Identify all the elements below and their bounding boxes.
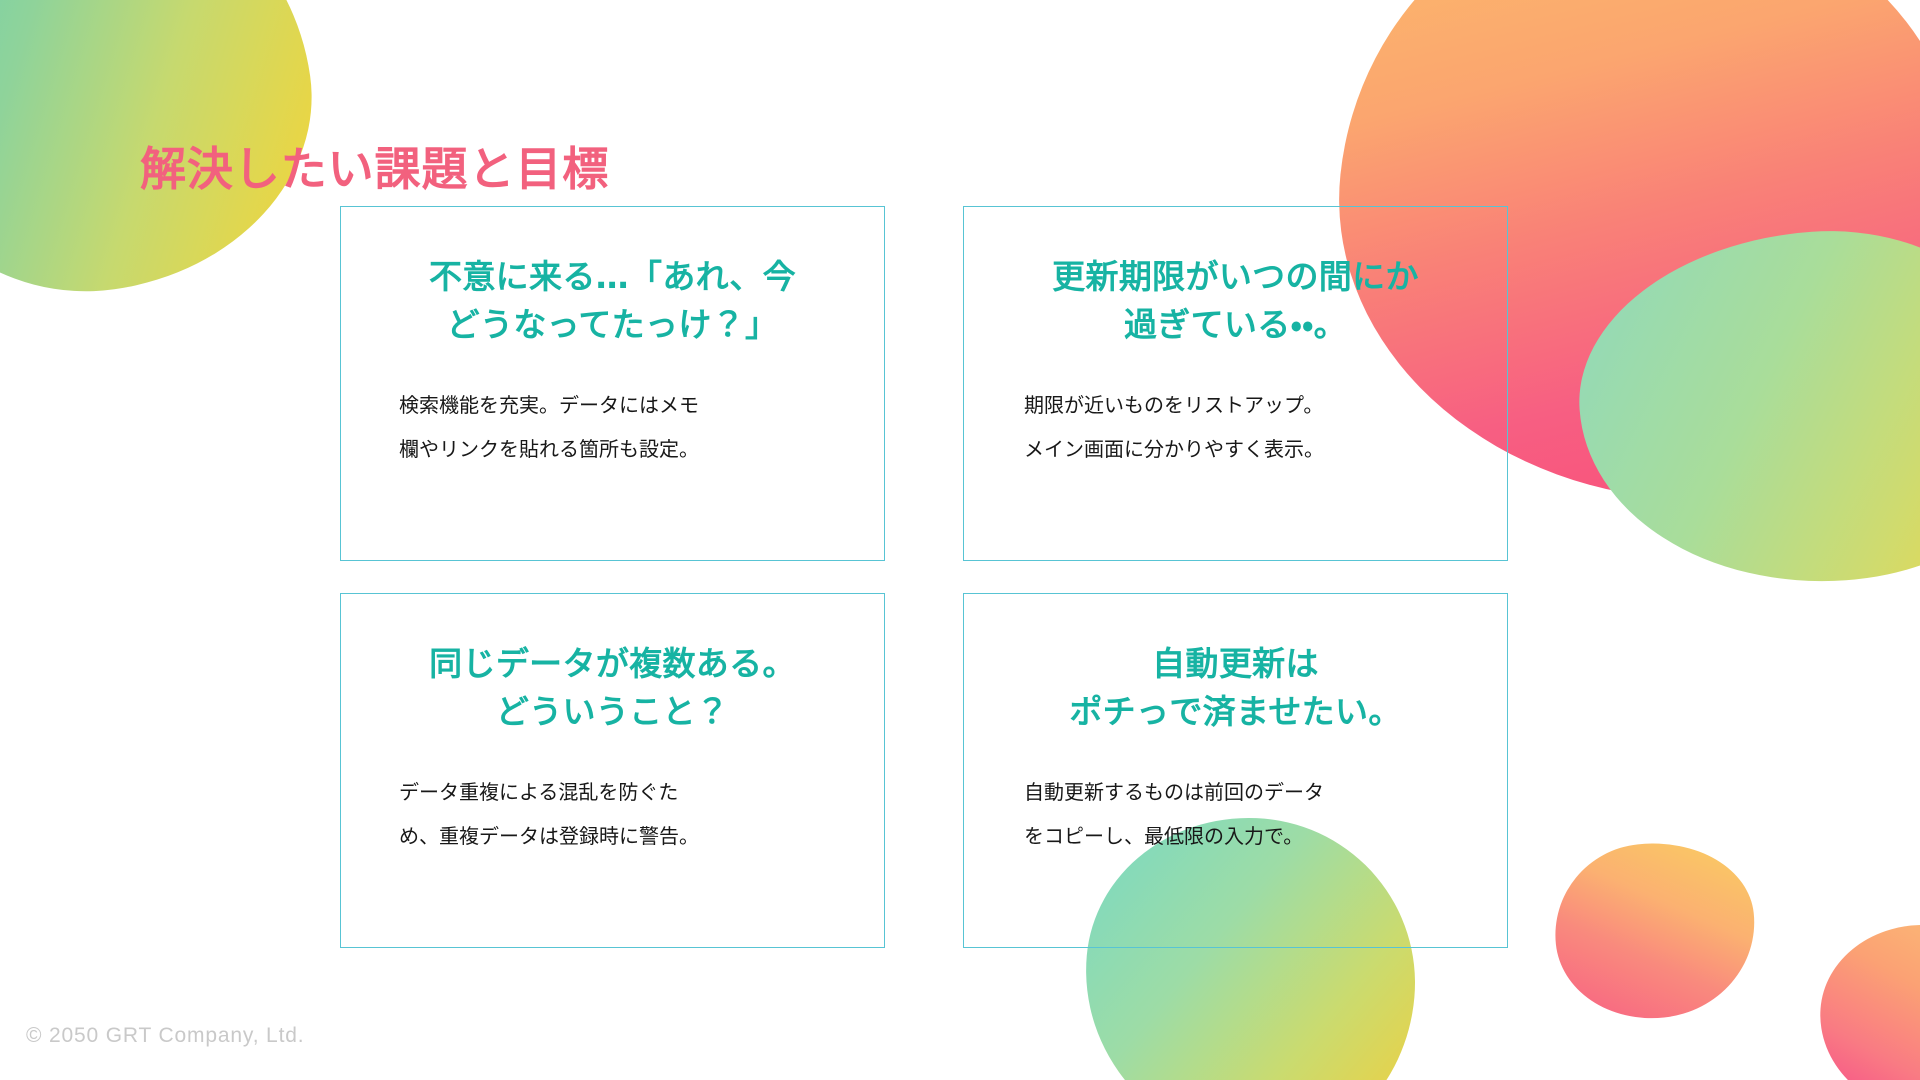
footer-copyright: © 2050 GRT Company, Ltd. [26,1024,304,1048]
problem-card-4: 自動更新は ポチっで済ませたい。 自動更新するものは前回のデータ をコピーし、最… [963,593,1508,948]
problem-card-4-title: 自動更新は ポチっで済ませたい。 [1069,640,1401,736]
problem-card-2-title: 更新期限がいつの間にか 過ぎている・・。 [1052,253,1419,349]
card-grid: 不意に来る…「あれ、今 どうなってたっけ？」 検索機能を充実。データにはメモ 欄… [340,206,1510,948]
slide-content: 解決したい課題と目標 不意に来る…「あれ、今 どうなってたっけ？」 検索機能を充… [0,0,1920,1080]
problem-card-4-body: 自動更新するものは前回のデータ をコピーし、最低限の入力で。 [1024,770,1324,858]
problem-card-1-title: 不意に来る…「あれ、今 どうなってたっけ？」 [429,253,796,349]
problem-card-3: 同じデータが複数ある。 どういうこと？ データ重複による混乱を防ぐた め、重複デ… [340,593,885,948]
problem-card-3-body: データ重複による混乱を防ぐた め、重複データは登録時に警告。 [399,770,699,858]
problem-card-1: 不意に来る…「あれ、今 どうなってたっけ？」 検索機能を充実。データにはメモ 欄… [340,206,885,561]
problem-card-2-body: 期限が近いものをリストアップ。 メイン画面に分かりやすく表示。 [1024,383,1324,471]
slide-canvas: 解決したい課題と目標 不意に来る…「あれ、今 どうなってたっけ？」 検索機能を充… [0,0,1920,1080]
problem-card-1-body: 検索機能を充実。データにはメモ 欄やリンクを貼れる箇所も設定。 [399,383,699,471]
problem-card-3-title: 同じデータが複数ある。 どういうこと？ [429,640,796,736]
page-title: 解決したい課題と目標 [140,133,609,199]
problem-card-2: 更新期限がいつの間にか 過ぎている・・。 期限が近いものをリストアップ。 メイン… [963,206,1508,561]
